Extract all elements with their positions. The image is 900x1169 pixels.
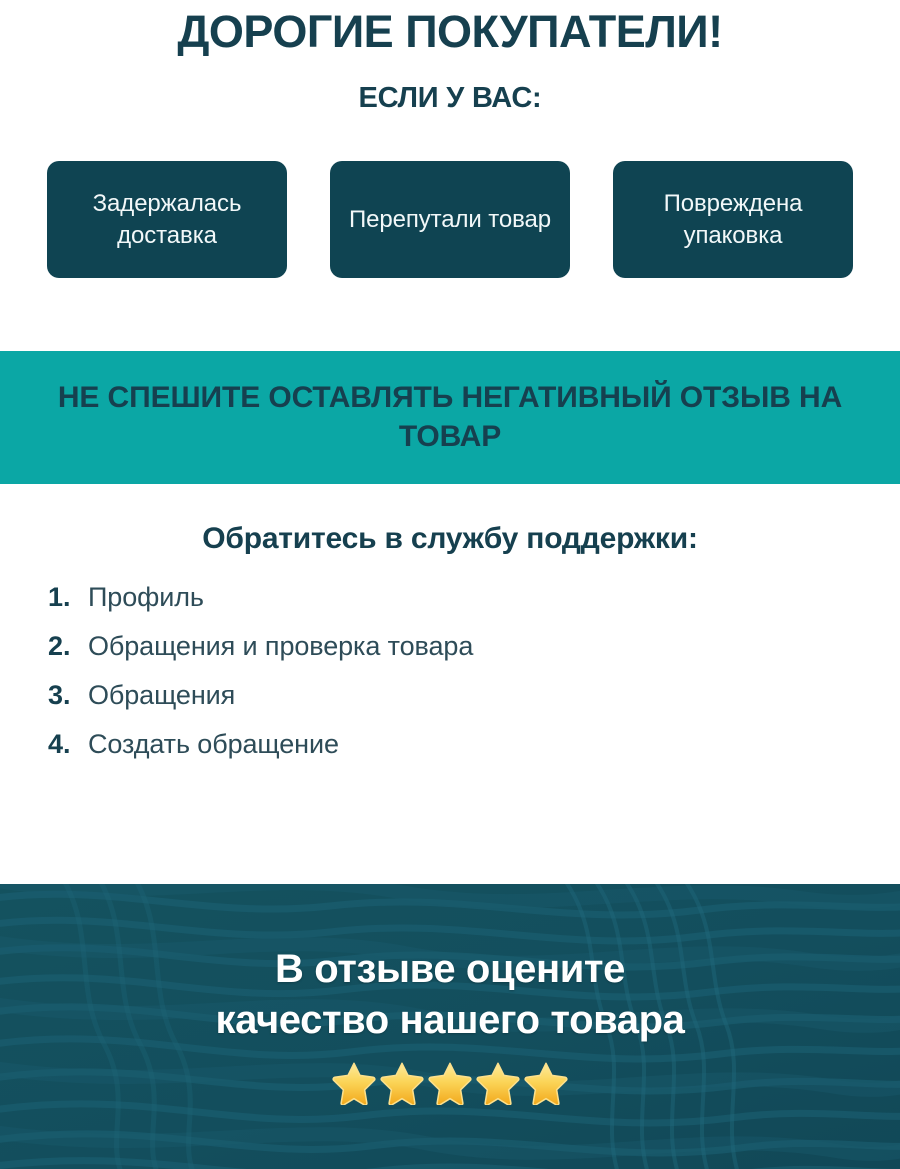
star-icon[interactable]	[523, 1059, 569, 1105]
issue-card-damaged-package[interactable]: Повреждена упаковка	[613, 161, 853, 278]
issue-card-wrong-item[interactable]: Перепутали товар	[330, 161, 570, 278]
promo-banner-page: ДОРОГИЕ ПОКУПАТЕЛИ! ЕСЛИ У ВАС: Задержал…	[0, 0, 900, 1169]
footer-section: В отзыве оцените качество нашего товара	[0, 884, 900, 1169]
page-title: ДОРОГИЕ ПОКУПАТЕЛИ!	[0, 8, 900, 55]
intro-section: ДОРОГИЕ ПОКУПАТЕЛИ! ЕСЛИ У ВАС: Задержал…	[0, 0, 900, 278]
issue-cards-row: Задержалась доставка Перепутали товар По…	[0, 115, 900, 278]
footer-title: В отзыве оцените качество нашего товара	[0, 944, 900, 1046]
issue-card-delivery-delayed[interactable]: Задержалась доставка	[47, 161, 287, 278]
list-item[interactable]: 2. Обращения и проверка товара	[48, 633, 900, 682]
footer-title-line-2: качество нашего товара	[215, 998, 684, 1042]
step-number: 3.	[48, 682, 79, 709]
star-icon[interactable]	[475, 1059, 521, 1105]
support-section: Обратитесь в службу поддержки: 1. Профил…	[0, 484, 900, 884]
page-subtitle: ЕСЛИ У ВАС:	[0, 55, 900, 115]
step-number: 4.	[48, 731, 79, 758]
support-steps-list: 1. Профиль 2. Обращения и проверка товар…	[0, 556, 900, 780]
star-icon[interactable]	[427, 1059, 473, 1105]
star-icon[interactable]	[331, 1059, 377, 1105]
warning-banner: НЕ СПЕШИТЕ ОСТАВЛЯТЬ НЕГАТИВНЫЙ ОТЗЫВ НА…	[0, 351, 900, 484]
support-title: Обратитесь в службу поддержки:	[0, 522, 900, 556]
footer-title-line-1: В отзыве оцените	[275, 947, 625, 991]
footer-content: В отзыве оцените качество нашего товара	[0, 944, 900, 1110]
step-number: 2.	[48, 633, 79, 660]
issue-card-label: Повреждена упаковка	[623, 188, 843, 251]
step-number: 1.	[48, 584, 79, 611]
list-item[interactable]: 4. Создать обращение	[48, 731, 900, 780]
issue-card-label: Перепутали товар	[349, 204, 551, 236]
issue-card-label: Задержалась доставка	[57, 188, 277, 251]
step-label: Обращения	[88, 682, 235, 709]
star-icon[interactable]	[379, 1059, 425, 1105]
warning-banner-text: НЕ СПЕШИТЕ ОСТАВЛЯТЬ НЕГАТИВНЫЙ ОТЗЫВ НА…	[0, 379, 900, 456]
list-item[interactable]: 1. Профиль	[48, 584, 900, 633]
list-item[interactable]: 3. Обращения	[48, 682, 900, 731]
step-label: Профиль	[88, 584, 204, 611]
rating-stars[interactable]	[0, 1059, 900, 1105]
step-label: Обращения и проверка товара	[88, 633, 473, 660]
step-label: Создать обращение	[88, 731, 339, 758]
